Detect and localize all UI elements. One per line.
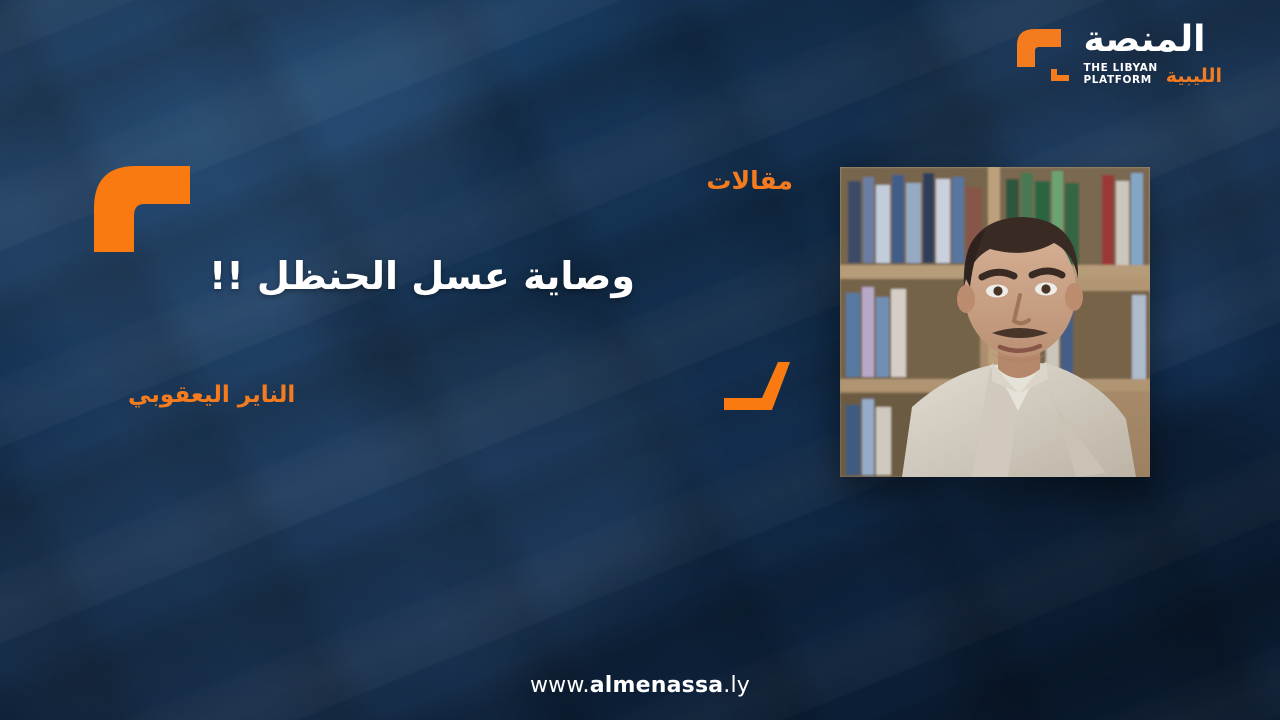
brand-logo-subline: الليبية THE LIBYAN PLATFORM xyxy=(1083,62,1222,86)
article-category[interactable]: مقالات xyxy=(706,166,793,195)
footer-website-url[interactable]: www.almenassa.ly xyxy=(0,673,1280,698)
footer-url-prefix: www. xyxy=(530,673,590,698)
author-portrait-photo[interactable] xyxy=(840,167,1150,477)
footer-url-brand: almenassa xyxy=(590,673,724,698)
brand-logo-latin-line2: PLATFORM xyxy=(1083,74,1157,86)
decor-corner-l-icon xyxy=(722,360,792,412)
brand-logo-mark-icon xyxy=(1011,23,1073,85)
brand-logo-arabic-qualifier: الليبية xyxy=(1166,67,1222,86)
brand-logo-latin: THE LIBYAN PLATFORM xyxy=(1083,62,1157,86)
article-card-canvas: المنصة الليبية THE LIBYAN PLATFORM xyxy=(0,0,1280,720)
brand-logo-latin-line1: THE LIBYAN xyxy=(1083,62,1157,74)
brand-logo[interactable]: المنصة الليبية THE LIBYAN PLATFORM xyxy=(1011,22,1222,86)
decor-bracket-r-icon xyxy=(88,160,196,256)
footer-url-tld: .ly xyxy=(723,673,750,698)
brand-logo-arabic-name: المنصة xyxy=(1083,22,1205,58)
article-author[interactable]: الناير اليعقوبي xyxy=(128,382,295,408)
brand-logo-wordmark: المنصة الليبية THE LIBYAN PLATFORM xyxy=(1083,22,1222,86)
article-headline: وصاية عسل الحنظل !! xyxy=(209,254,635,298)
